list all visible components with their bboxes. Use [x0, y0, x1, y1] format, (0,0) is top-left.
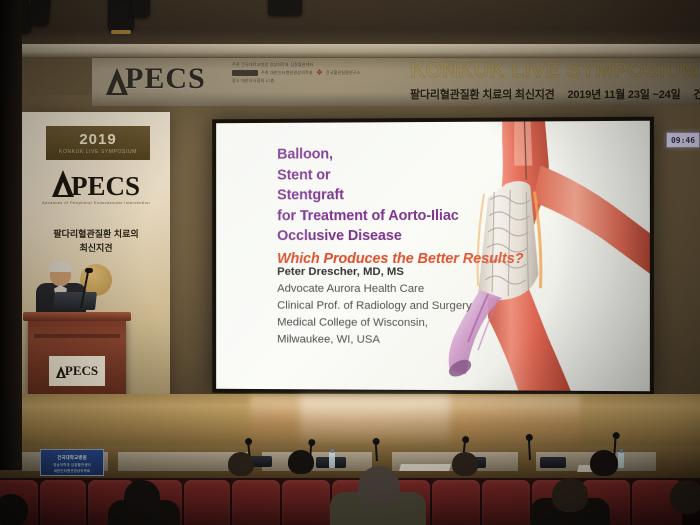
- stage-light-icon: [268, 0, 302, 16]
- projection-screen: Balloon, Stent or Stentgraft for Treatme…: [216, 121, 650, 392]
- microphone-head-icon: [461, 436, 469, 444]
- banner-venue: 건국대학교병: [693, 89, 700, 101]
- slide-affiliation-line: Medical College of Wisconsin,: [277, 315, 526, 333]
- wall-notice-sign: 건국대학교병원 영상의학과 심장혈관센터 대한인터벤션영상의학회: [40, 449, 104, 476]
- poster-korean-title: 팔다리혈관질환 치료의 최신지견: [22, 228, 170, 255]
- poster-symposium-line: KONKUK LIVE SYMPOSIUM: [59, 149, 137, 155]
- slide-title-line: Occlusive Disease: [277, 226, 532, 247]
- podium-sign: PECS: [49, 356, 105, 386]
- slide-title: Balloon, Stent or Stentgraft for Treatme…: [277, 144, 532, 270]
- microphone-head-icon: [612, 432, 619, 439]
- seat: [232, 480, 280, 525]
- podium-laptop: [53, 292, 97, 310]
- poster-year-box: 2019 KONKUK LIVE SYMPOSIUM: [46, 126, 150, 160]
- sponsor-logo-icon: [232, 70, 258, 76]
- seat: [482, 480, 530, 525]
- speaker-hair: [49, 261, 72, 272]
- auditorium-scene: PECS 주관 건국대학교병원 영상의학과 심장혈관센터 주최 대한인터벤션영상…: [0, 0, 700, 525]
- audience-head: [590, 450, 618, 476]
- podium-sign-text: PECS: [65, 363, 98, 379]
- microphone-head-icon: [244, 438, 252, 446]
- water-bottle: [618, 452, 624, 468]
- ceiling-beam: [0, 44, 700, 58]
- microphone-head-icon: [525, 434, 532, 441]
- apecs-logo-text: PECS: [125, 62, 206, 96]
- slide-author-name: Peter Drescher, MD, MS: [277, 264, 526, 281]
- banner-sponsor-block: 주관 건국대학교병원 영상의학과 심장혈관센터 주최 대한인터벤션영상의학회 ❖…: [232, 61, 412, 103]
- slide-affiliation-line: Clinical Prof. of Radiology and Surgery: [277, 298, 526, 316]
- slide-title-line: Balloon,: [277, 144, 532, 166]
- audience-head: [452, 452, 478, 476]
- banner-symposium-title: KONKUK LIVE SYMPOSIUM: [410, 59, 699, 83]
- notice-sign-line-3: 대한인터벤션영상의학회: [41, 468, 103, 474]
- audience-head: [288, 450, 314, 474]
- poster-korean-line-2: 최신지견: [22, 242, 170, 256]
- microphone-head-icon: [308, 439, 315, 446]
- stage-banner: PECS 주관 건국대학교병원 영상의학과 심장혈관센터 주최 대한인터벤션영상…: [92, 58, 700, 106]
- ceiling: [0, 0, 700, 50]
- audience-head: [670, 480, 700, 514]
- seat: [40, 480, 86, 525]
- sponsor-line-2: 건국혈관질환연구소: [326, 69, 361, 77]
- slide-title-line: Stent or: [277, 164, 532, 185]
- audience-head: [228, 452, 254, 476]
- stage-curtain: [0, 0, 22, 470]
- slide-title-line: for Treatment of Aorto-Iliac: [277, 206, 532, 227]
- water-bottle: [329, 452, 335, 468]
- microphone-head-icon: [372, 438, 379, 445]
- stage-light-icon: [132, 0, 150, 18]
- audience-head: [124, 480, 160, 514]
- poster-korean-line-1: 팔다리혈관질환 치료의: [22, 228, 170, 242]
- audience-head: [552, 478, 588, 512]
- seat: [282, 480, 330, 525]
- banner-korean-info: 팔다리혈관질환 치료의 최신지견 2019년 11월 23일 ~24일 건국대학…: [410, 86, 700, 102]
- apecs-logo: PECS: [106, 62, 206, 96]
- seat: [184, 480, 230, 525]
- sponsor-mark-icon: ❖: [316, 69, 323, 77]
- apecs-triangle-icon: [52, 170, 74, 197]
- desk-control-unit: [540, 457, 566, 468]
- poster-tagline: Advances of Peripheral Endovascular Inte…: [22, 200, 170, 205]
- poster-logo-text: PECS: [71, 171, 140, 201]
- sponsor-line-1: 주최 대한인터벤션영상의학회: [261, 69, 313, 77]
- slide-affiliation-line: Milwaukee, WI, USA: [277, 332, 526, 350]
- seat: [432, 480, 480, 525]
- apecs-triangle-icon: [106, 68, 128, 95]
- stage-light-icon: [108, 0, 134, 32]
- apecs-triangle-icon: [56, 366, 66, 378]
- poster-year: 2019: [79, 132, 116, 147]
- slide-affiliation-line: Advocate Aurora Health Care: [277, 281, 526, 298]
- sponsor-row-main: 주최 대한인터벤션영상의학회 ❖ 건국혈관질환연구소: [232, 69, 412, 77]
- banner-korean-subtitle: 팔다리혈관질환 치료의 최신지견: [410, 89, 555, 101]
- podium-top: [23, 312, 131, 321]
- wall-clock-display: 09:46: [666, 132, 700, 148]
- slide-title-line: Stentgraft: [277, 185, 532, 206]
- audience-head: [0, 494, 28, 525]
- podium-microphone-icon: [85, 268, 93, 273]
- sponsor-line-3: 장소 대한의사협회 12층: [232, 77, 412, 85]
- poster-apecs-logo: PECS: [22, 168, 170, 202]
- projection-screen-frame: Balloon, Stent or Stentgraft for Treatme…: [212, 117, 654, 396]
- audience-head: [358, 466, 400, 508]
- podium-band: [34, 334, 120, 338]
- banner-dates: 2019년 11월 23일 ~24일: [567, 89, 680, 101]
- slide-author-block: Peter Drescher, MD, MS Advocate Aurora H…: [277, 264, 526, 350]
- notice-sign-line-1: 건국대학교병원: [41, 454, 103, 462]
- presentation-slide: Balloon, Stent or Stentgraft for Treatme…: [216, 121, 650, 392]
- stage-light-icon: [28, 0, 51, 27]
- desk-papers: [399, 464, 451, 471]
